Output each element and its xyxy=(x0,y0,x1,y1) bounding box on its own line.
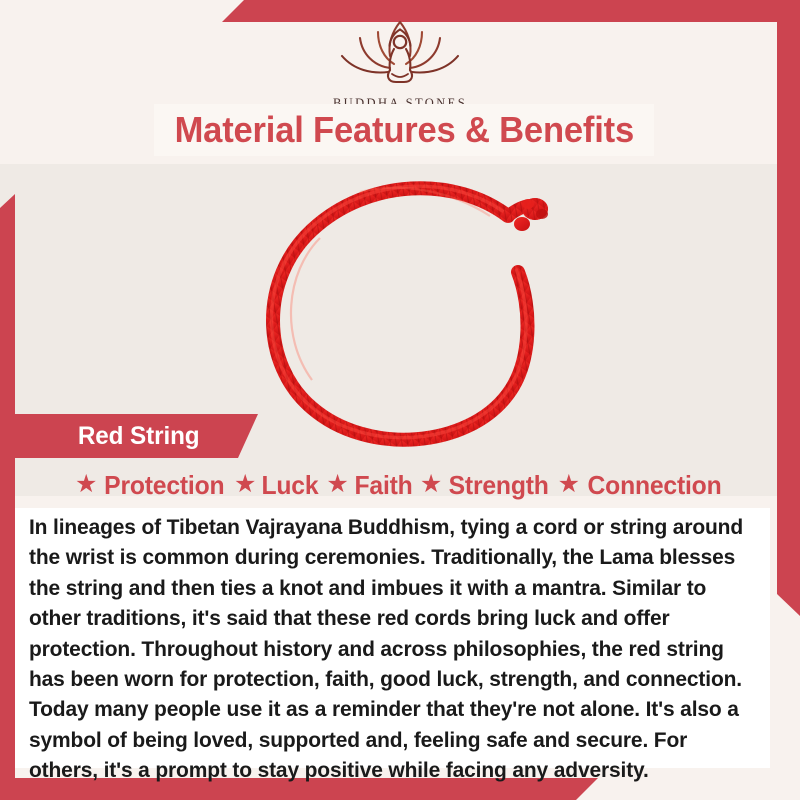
benefit-item-protection: ★ Protection xyxy=(75,470,228,501)
benefit-label: Connection xyxy=(588,470,722,501)
benefit-item-faith: ★ Faith xyxy=(326,470,414,501)
benefit-label: Faith xyxy=(354,470,412,501)
benefit-label: Strength xyxy=(449,470,549,501)
section-ribbon: Red String xyxy=(14,414,258,458)
title-plate: Material Features & Benefits xyxy=(154,104,654,156)
star-icon: ★ xyxy=(326,472,348,497)
infographic-card: BUDDHA STONES Material Features & Benefi… xyxy=(0,0,800,800)
star-icon: ★ xyxy=(558,472,580,497)
star-icon: ★ xyxy=(234,472,256,497)
benefit-item-luck: ★ Luck xyxy=(234,470,320,501)
star-icon: ★ xyxy=(75,472,97,497)
section-title: Red String xyxy=(78,422,200,451)
decorative-bar-left xyxy=(0,194,15,790)
star-icon: ★ xyxy=(420,472,442,497)
benefit-label: Luck xyxy=(262,470,319,501)
description-panel: In lineages of Tibetan Vajrayana Buddhis… xyxy=(15,508,770,768)
benefits-list: ★ Protection ★ Luck ★ Faith ★ Strength ★… xyxy=(14,466,786,504)
page-title: Material Features & Benefits xyxy=(174,109,633,151)
benefit-item-connection: ★ Connection xyxy=(558,470,725,501)
brand-logo: BUDDHA STONES xyxy=(0,16,800,111)
description-text: In lineages of Tibetan Vajrayana Buddhis… xyxy=(29,512,751,786)
benefit-item-strength: ★ Strength xyxy=(420,470,552,501)
benefit-label: Protection xyxy=(105,470,225,501)
product-image xyxy=(250,168,570,450)
lotus-meditation-figure-icon xyxy=(0,16,800,93)
